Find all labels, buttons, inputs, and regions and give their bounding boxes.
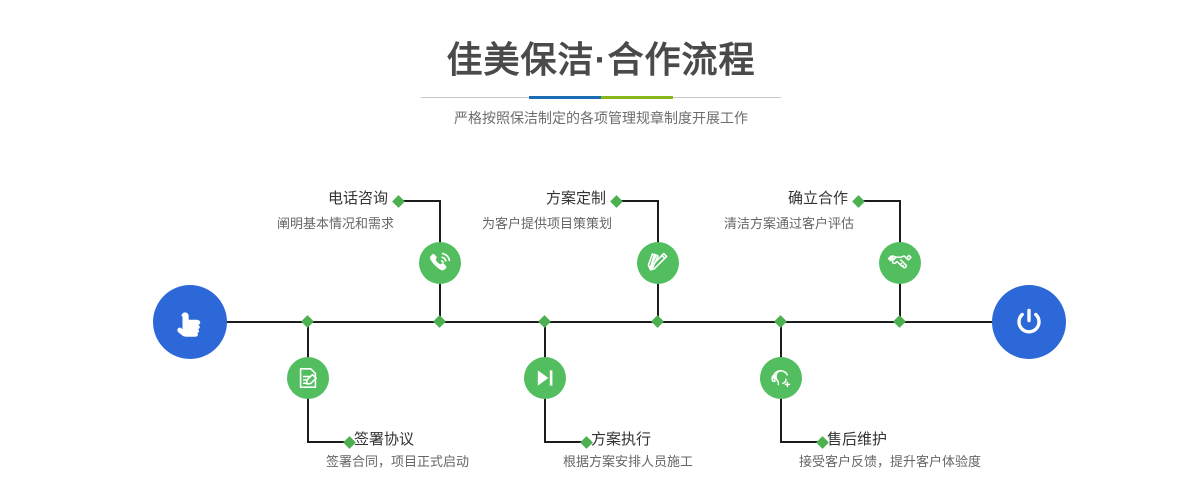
flow-end-node[interactable] (992, 285, 1066, 359)
flow-start-node[interactable] (153, 285, 227, 359)
step-label-6: 售后维护 (827, 430, 887, 450)
step-label-1: 电话咨询 (194, 189, 388, 209)
step-desc-6: 接受客户反馈，提升客户体验度 (799, 453, 981, 471)
pointing-hand-icon (170, 302, 210, 342)
cooperation-process-infographic: 佳美保洁·合作流程 严格按照保洁制定的各项管理规章制度开展工作 (0, 0, 1202, 502)
step-node-2[interactable] (287, 357, 329, 399)
play-next-icon (532, 365, 558, 391)
axis-marker-step-4 (538, 315, 551, 328)
axis-marker-step-1 (433, 315, 446, 328)
handshake-icon (887, 250, 913, 276)
label-marker-step-1 (392, 195, 405, 208)
step-label-2: 签署协议 (354, 430, 414, 450)
step-node-1[interactable] (419, 242, 461, 284)
label-marker-step-3 (610, 195, 623, 208)
step-desc-3: 为客户提供项目策策划 (372, 215, 612, 233)
axis-marker-step-6 (774, 315, 787, 328)
step-node-5[interactable] (879, 242, 921, 284)
axis-marker-step-3 (651, 315, 664, 328)
step-label-3: 方案定制 (412, 189, 606, 209)
step-desc-4: 根据方案安排人员施工 (563, 453, 693, 471)
step-desc-2: 签署合同，项目正式启动 (326, 453, 469, 471)
power-icon (1009, 302, 1049, 342)
label-marker-step-5 (852, 195, 865, 208)
step-desc-1: 阐明基本情况和需求 (154, 215, 394, 233)
axis-marker-step-2 (301, 315, 314, 328)
axis-marker-step-5 (893, 315, 906, 328)
document-sign-icon (295, 365, 321, 391)
step-node-3[interactable] (637, 242, 679, 284)
process-flow: 电话咨询 阐明基本情况和需求 签署协议 签署合同，项目正式启动 (0, 0, 1202, 502)
step-node-6[interactable] (760, 357, 802, 399)
step-node-4[interactable] (524, 357, 566, 399)
headset-support-icon (768, 365, 794, 391)
step-desc-5: 清洁方案通过客户评估 (614, 215, 854, 233)
phone-call-icon (427, 250, 453, 276)
step-label-4: 方案执行 (591, 430, 651, 450)
pencil-design-icon (645, 250, 671, 276)
step-label-5: 确立合作 (654, 189, 848, 209)
